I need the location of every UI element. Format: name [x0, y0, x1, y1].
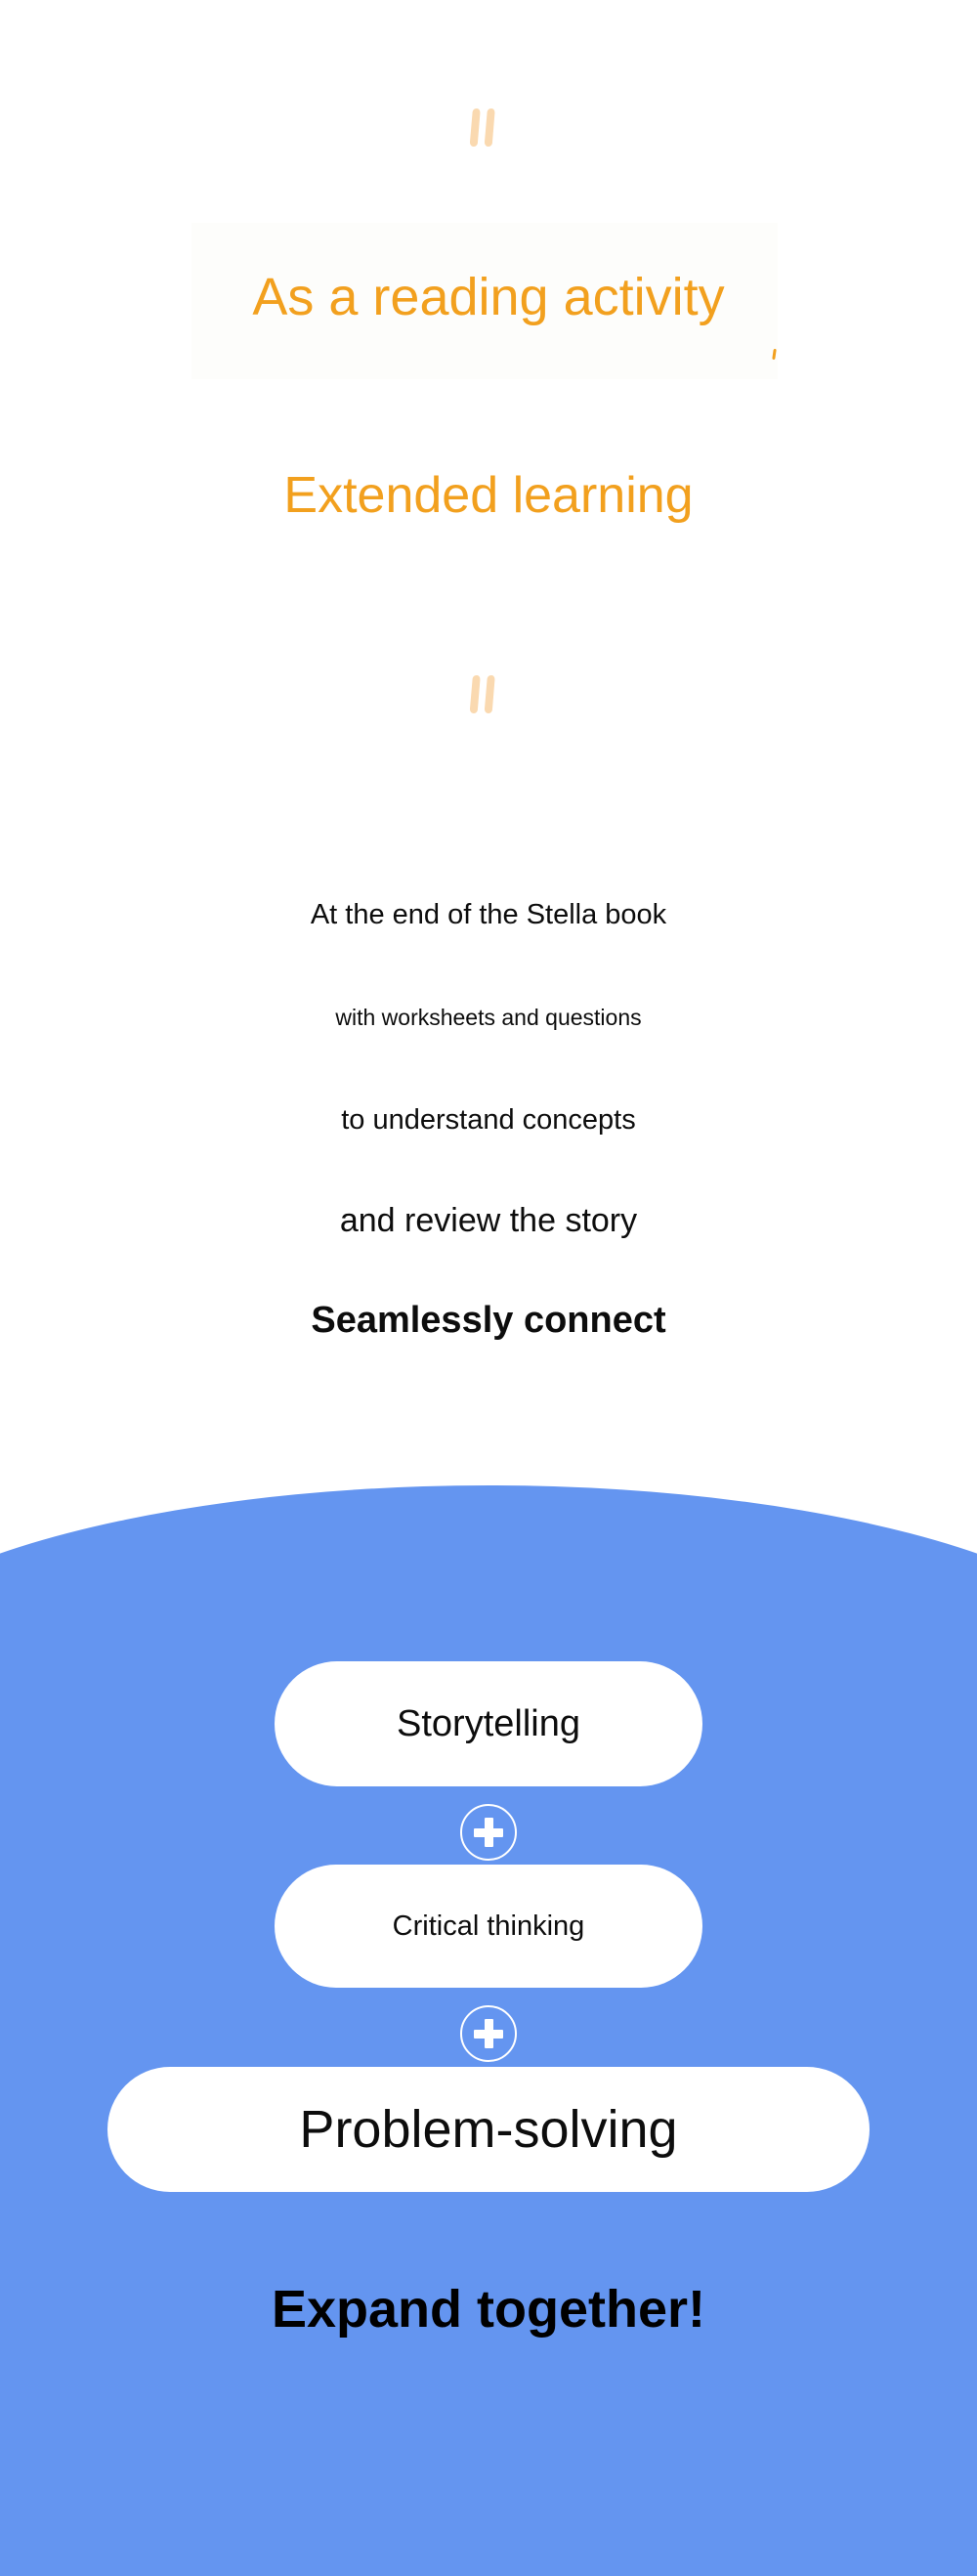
body-line-understand-concepts: to understand concepts — [0, 1104, 977, 1137]
pill-storytelling-label: Storytelling — [397, 1703, 580, 1745]
plus-icon[interactable] — [460, 2005, 517, 2062]
top-white-section: As a reading activity Extended learning … — [0, 0, 977, 1505]
body-line-stella-book: At the end of the Stella book — [0, 899, 977, 931]
heading-extended-learning: Extended learning — [0, 465, 977, 526]
pill-problem-solving-label: Problem-solving — [299, 2099, 677, 2160]
plus-icon-vertical-bar — [485, 2019, 493, 2048]
pill-storytelling[interactable]: Storytelling — [275, 1661, 702, 1786]
heading-as-a-reading-activity: As a reading activity — [0, 266, 977, 328]
body-line-review-story: and review the story — [0, 1202, 977, 1240]
pill-problem-solving[interactable]: Problem-solving — [107, 2067, 870, 2192]
plus-icon-vertical-bar — [485, 1818, 493, 1847]
plus-icon[interactable] — [460, 1804, 517, 1861]
pill-critical-thinking[interactable]: Critical thinking — [275, 1865, 702, 1988]
quote-mark-icon — [459, 669, 518, 728]
body-line-worksheets-questions: with worksheets and questions — [0, 1005, 977, 1031]
footer-expand-together: Expand together! — [0, 2279, 977, 2340]
body-line-seamlessly-connect: Seamlessly connect — [0, 1300, 977, 1342]
pill-critical-thinking-label: Critical thinking — [393, 1911, 585, 1943]
quote-mark-icon — [459, 103, 518, 161]
